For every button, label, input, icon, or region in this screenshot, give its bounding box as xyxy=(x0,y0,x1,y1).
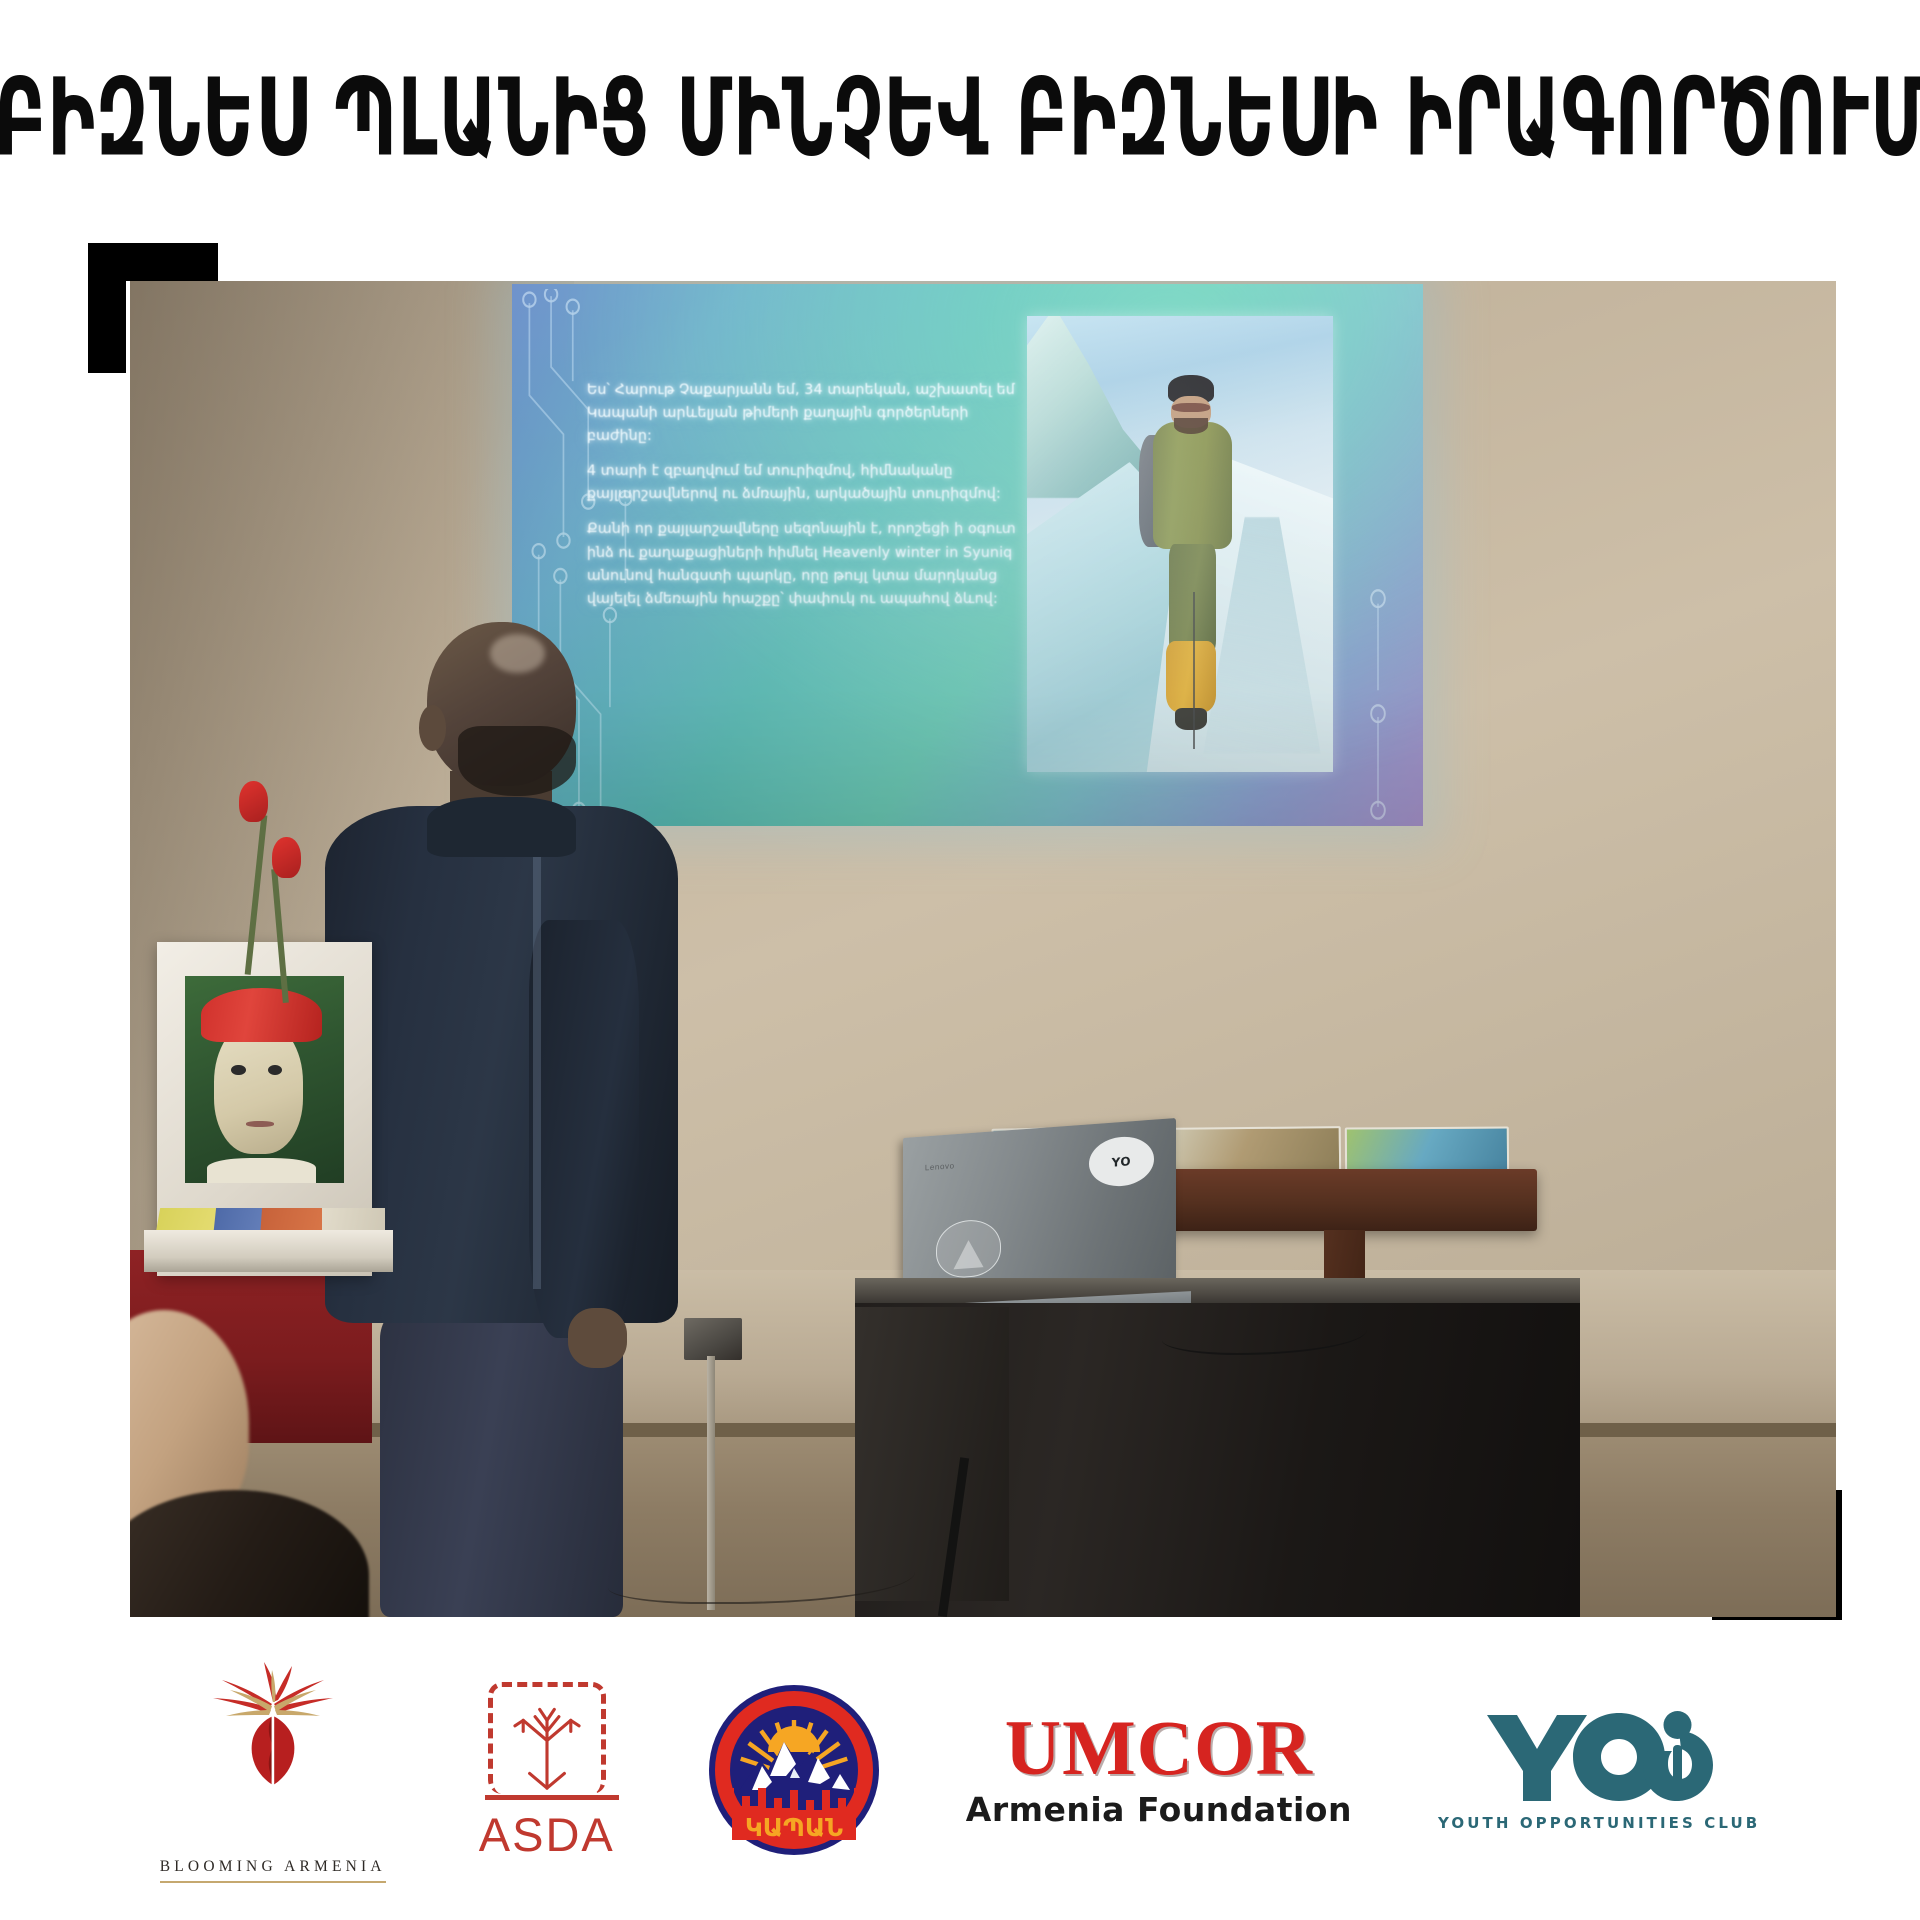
pomegranate-flower-icon xyxy=(168,1658,378,1818)
slide-paragraph-2: 4 տարի է զբաղվում եմ տուրիզմով, հիմնական… xyxy=(587,460,1024,506)
display-shelf xyxy=(144,1230,393,1273)
asda-wordmark: ASDA xyxy=(479,1811,615,1858)
asda-baseline xyxy=(485,1795,619,1800)
portrait-red-headscarf xyxy=(201,988,322,1042)
sponsor-logo-row: BLOOMING ARMENIA ASDA xyxy=(0,1645,1920,1895)
logo-umcor: UMCOR Armenia Foundation xyxy=(966,1711,1352,1830)
presenter-arm xyxy=(529,920,639,1338)
red-tulip xyxy=(239,781,268,822)
yoc-monogram-icon xyxy=(1483,1709,1715,1805)
slide-mountaineer-photo xyxy=(1027,316,1333,772)
yo-sticker-label: YO xyxy=(1111,1154,1130,1169)
circuit-decoration-right xyxy=(1337,587,1419,820)
portrait-eye-left xyxy=(231,1065,245,1075)
yo-sticker: YO xyxy=(1088,1135,1154,1189)
logo-yoc: YOUTH OPPORTUNITIES CLUB xyxy=(1438,1709,1760,1832)
umcor-subtitle: Armenia Foundation xyxy=(966,1790,1352,1829)
laptop-brand-label: Lenovo xyxy=(925,1161,955,1172)
head-highlight xyxy=(490,634,545,674)
sunglasses xyxy=(1172,403,1209,412)
portrait-collar xyxy=(207,1158,315,1183)
tree-icon xyxy=(493,1687,601,1794)
page-title: ԲԻԶՆԵՍ ՊԼԱՆԻՑ ՄԻՆՉԵՎ ԲԻԶՆԵՍԻ ԻՐԱԳՈՐԾՈՒՄ xyxy=(0,64,1920,171)
red-tulip xyxy=(272,837,301,878)
presenter-beard xyxy=(458,726,576,796)
slide-paragraph-1: Ես՝ Հարութ Չաքարյանն եմ, 34 տարեկան, աշխ… xyxy=(587,379,1024,448)
round-logo-sticker xyxy=(936,1218,1002,1280)
mountaineer-figure xyxy=(1143,375,1247,749)
slide-body-text: Ես՝ Հարութ Չաքարյանն եմ, 34 տարեկան, աշխ… xyxy=(587,379,1024,611)
svg-text:ԿԱՊԱՆ: ԿԱՊԱՆ xyxy=(745,1813,843,1842)
kapan-emblem-mark: ԿԱՊԱՆ xyxy=(708,1684,880,1856)
projector-stand-box xyxy=(684,1318,742,1361)
logo-asda: ASDA xyxy=(472,1682,622,1858)
shirt-collar xyxy=(427,797,576,857)
yoc-mark xyxy=(1483,1709,1715,1805)
trekking-pole xyxy=(1193,592,1195,749)
logo-kapan: ԿԱՊԱՆ xyxy=(708,1684,880,1856)
blooming-armenia-wordmark: BLOOMING ARMENIA xyxy=(160,1858,386,1883)
boots xyxy=(1175,708,1206,730)
blooming-armenia-mark xyxy=(168,1658,378,1848)
poster-root: ԲԻԶՆԵՍ ՊԼԱՆԻՑ ՄԻՆՉԵՎ ԲԻԶՆԵՍԻ ԻՐԱԳՈՐԾՈՒՄ xyxy=(0,0,1920,1920)
yoc-subtitle: YOUTH OPPORTUNITIES CLUB xyxy=(1438,1814,1760,1832)
kapan-city-emblem-icon: ԿԱՊԱՆ xyxy=(708,1684,880,1856)
olive-jacket xyxy=(1153,422,1232,549)
bracket-vertical-bar xyxy=(88,243,126,373)
event-photograph: Ես՝ Հարութ Չաքարյանն եմ, 34 տարեկան, աշխ… xyxy=(130,281,1836,1617)
presenter-hand xyxy=(568,1308,627,1368)
umcor-wordmark: UMCOR xyxy=(1005,1711,1313,1786)
poster-title-bar: ԲԻԶՆԵՍ ՊԼԱՆԻՑ ՄԻՆՉԵՎ ԲԻԶՆԵՍԻ ԻՐԱԳՈՐԾՈՒՄ xyxy=(0,58,1920,178)
portrait-mouth xyxy=(246,1121,275,1127)
yellow-gaiters xyxy=(1166,641,1216,712)
portrait-canvas xyxy=(185,976,344,1183)
asda-scalloped-frame xyxy=(488,1682,606,1794)
logo-blooming-armenia: BLOOMING ARMENIA xyxy=(160,1658,386,1883)
shirt-placket xyxy=(533,851,542,1289)
slide-paragraph-3: Քանի որ քայլարշավները սեզոնային է, որոշե… xyxy=(587,518,1024,611)
